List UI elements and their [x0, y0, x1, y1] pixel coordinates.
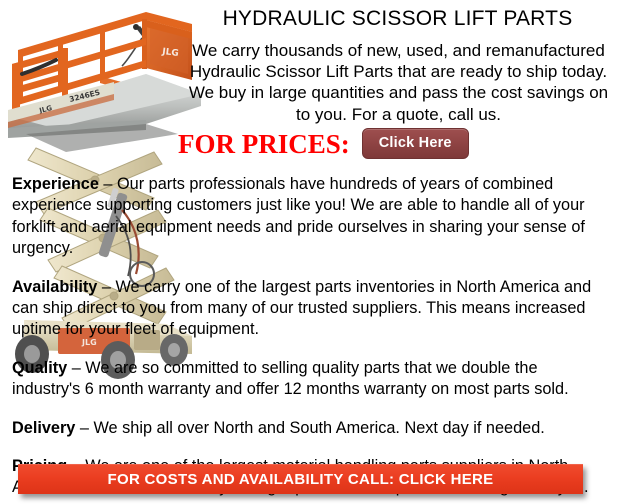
feature-item: Availability – We carry one of the large… [12, 277, 608, 341]
svg-text:JLG: JLG [38, 104, 54, 115]
feature-text: – Our parts professionals have hundreds … [12, 175, 585, 257]
guardrail-group: JLG [12, 12, 192, 122]
feature-list: Experience – Our parts professionals hav… [12, 174, 608, 499]
for-prices-row: FOR PRICES: Click Here [178, 128, 469, 159]
feature-text: – We ship all over North and South Ameri… [75, 419, 544, 437]
page-title: HYDRAULIC SCISSOR LIFT PARTS [176, 6, 619, 32]
intro-paragraph: We carry thousands of new, used, and rem… [182, 40, 615, 125]
svg-text:3246ES: 3246ES [68, 88, 101, 104]
feature-text: – We are so committed to selling quality… [12, 359, 569, 398]
feature-item: Quality – We are so committed to selling… [12, 358, 608, 401]
feature-term: Quality [12, 359, 67, 377]
click-here-button[interactable]: Click Here [362, 128, 469, 159]
feature-term: Availability [12, 278, 97, 296]
feature-item: Experience – Our parts professionals hav… [12, 174, 608, 260]
for-prices-label: FOR PRICES: [178, 129, 350, 159]
page-root: JLG [0, 0, 619, 504]
feature-item: Delivery – We ship all over North and So… [12, 418, 608, 439]
feature-term: Experience [12, 175, 99, 193]
platform-deck: JLG 3246ES [8, 74, 201, 152]
costs-availability-cta-button[interactable]: FOR COSTS AND AVAILABILITY CALL: CLICK H… [18, 464, 583, 494]
feature-text: – We carry one of the largest parts inve… [12, 278, 591, 339]
hero-block: HYDRAULIC SCISSOR LIFT PARTS We carry th… [176, 0, 619, 125]
feature-term: Delivery [12, 419, 75, 437]
